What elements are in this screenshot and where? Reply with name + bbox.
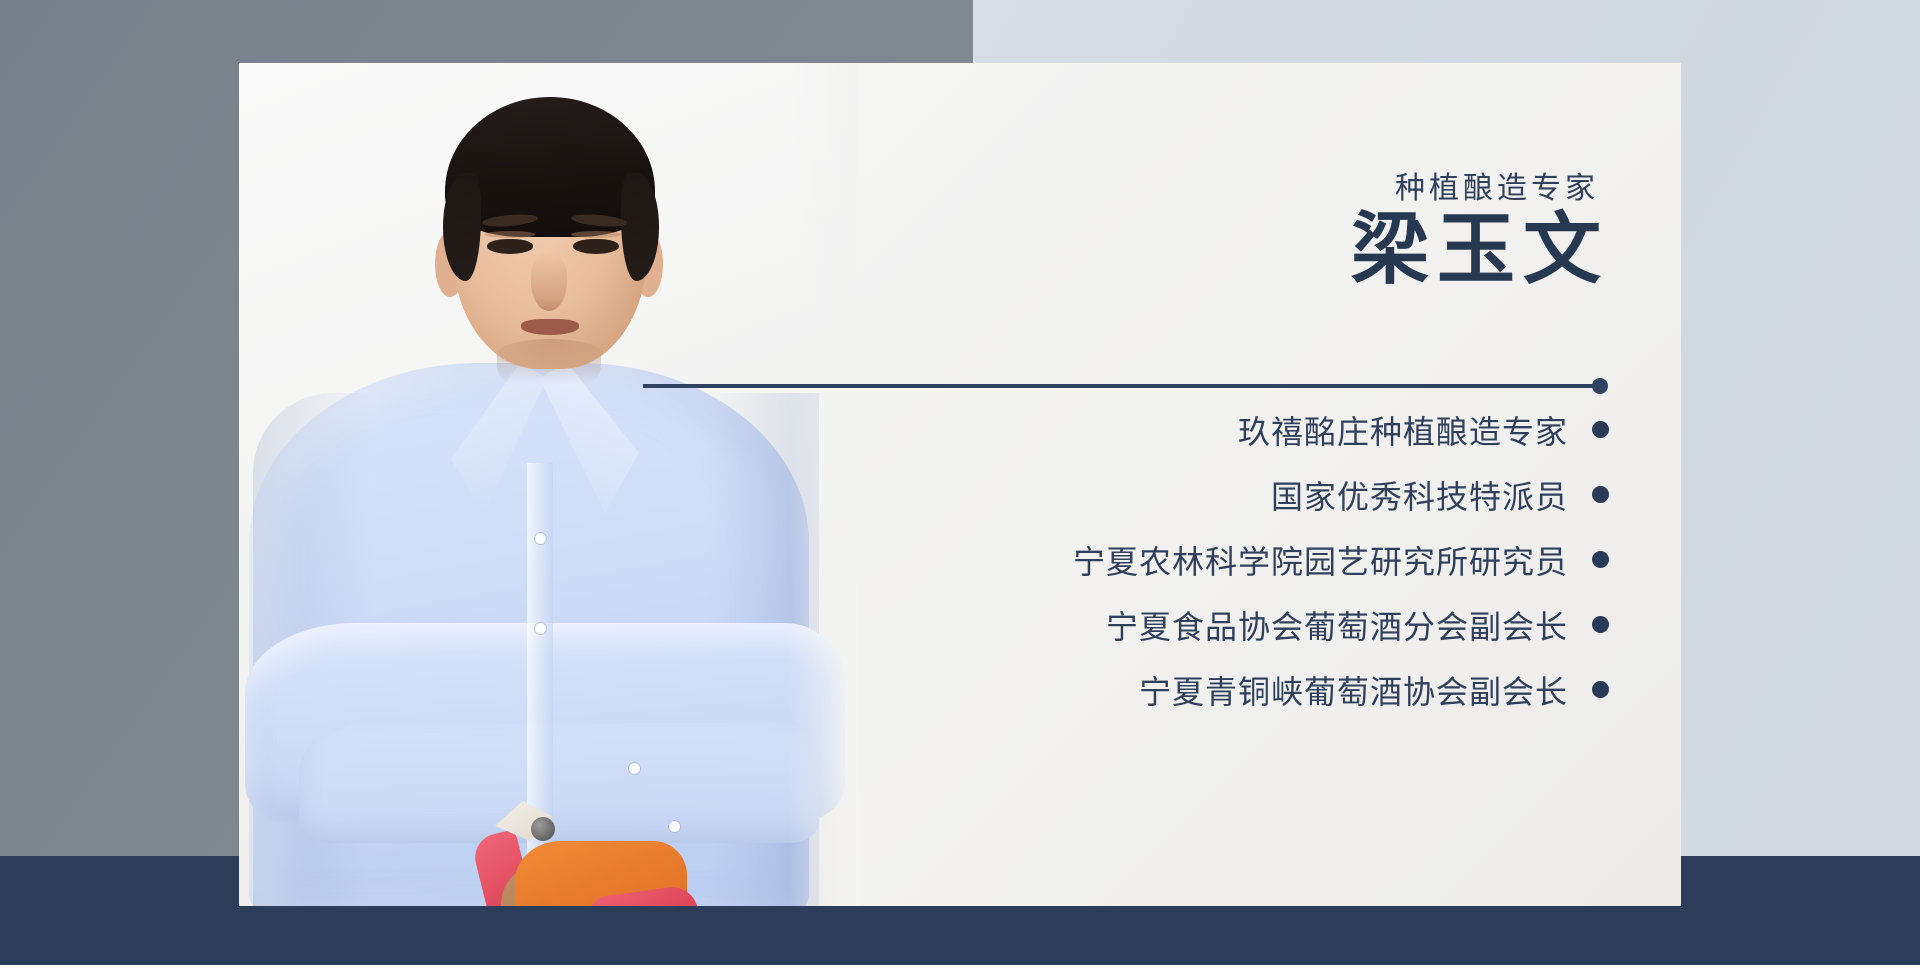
arm-fold (299, 723, 819, 843)
portrait-photo (239, 63, 859, 906)
list-item: 宁夏青铜峡葡萄酒协会副会长 (789, 657, 1609, 722)
profile-card: 种植酿造专家 梁玉文 玖禧酩庄种植酿造专家 国家优秀科技特派员 宁夏农林科学院园… (239, 63, 1681, 906)
poster-stage: 种植酿造专家 梁玉文 玖禧酩庄种植酿造专家 国家优秀科技特派员 宁夏农林科学院园… (0, 0, 1920, 970)
credential-label: 玖禧酩庄种植酿造专家 (1238, 407, 1568, 453)
bullet-dot-icon (1592, 551, 1609, 568)
shirt-button (669, 821, 680, 832)
profile-name: 梁玉文 (1351, 201, 1609, 299)
background-white-strip (0, 965, 1920, 970)
eyelid-right (571, 231, 621, 238)
eye-left (487, 239, 533, 254)
divider-line (643, 384, 1598, 388)
bullet-dot-icon (1592, 681, 1609, 698)
bullet-dot-icon (1592, 486, 1609, 503)
list-item: 玖禧酩庄种植酿造专家 (789, 397, 1609, 462)
pruning-shear-pivot (531, 817, 555, 841)
eyelid-left (485, 231, 535, 238)
eye-right (573, 239, 619, 254)
bullet-dot-icon (1592, 421, 1609, 438)
list-item: 宁夏食品协会葡萄酒分会副会长 (789, 592, 1609, 657)
shirt-button (535, 623, 546, 634)
divider-end-dot-icon (1592, 378, 1608, 394)
shirt-button (535, 533, 546, 544)
credential-label: 宁夏农林科学院园艺研究所研究员 (1073, 537, 1568, 583)
credentials-list: 玖禧酩庄种植酿造专家 国家优秀科技特派员 宁夏农林科学院园艺研究所研究员 宁夏食… (789, 397, 1609, 722)
nose (531, 253, 567, 311)
mouth (521, 319, 579, 335)
bullet-dot-icon (1592, 616, 1609, 633)
list-item: 国家优秀科技特派员 (789, 462, 1609, 527)
hair-side-left (443, 173, 481, 281)
shirt-placket (527, 463, 553, 863)
credential-label: 国家优秀科技特派员 (1271, 472, 1568, 518)
shirt-button (629, 763, 640, 774)
credential-label: 宁夏食品协会葡萄酒分会副会长 (1106, 602, 1568, 648)
credential-label: 宁夏青铜峡葡萄酒协会副会长 (1139, 667, 1568, 713)
chin-shadow (497, 339, 603, 369)
list-item: 宁夏农林科学院园艺研究所研究员 (789, 527, 1609, 592)
